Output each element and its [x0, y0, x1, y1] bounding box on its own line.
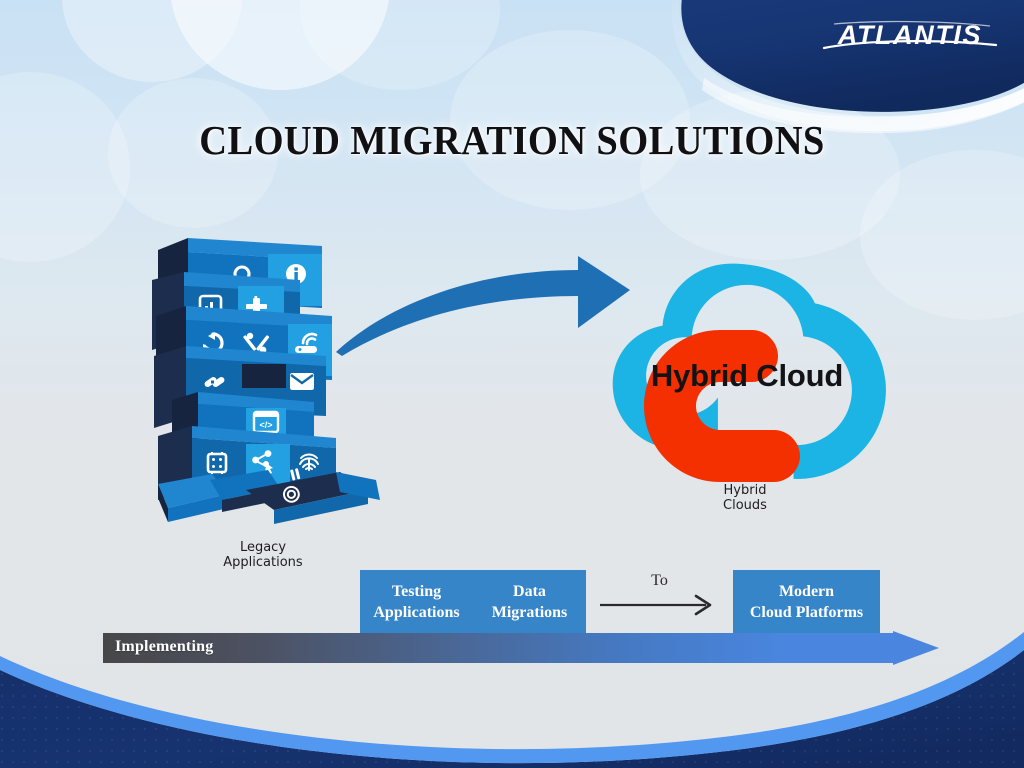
destination-line1: Modern [779, 583, 834, 600]
step-line1: Data [513, 583, 546, 600]
svg-text:</>: </> [259, 420, 272, 430]
svg-text:ATLANTIS: ATLANTIS [837, 20, 982, 50]
hybrid-cloud-logo-text: Hybrid Cloud [592, 358, 902, 394]
implementing-label: Implementing [115, 638, 213, 656]
right-arrow-icon [598, 594, 722, 616]
slide-canvas: ATLANTIS ATLANTIS CLOUD MIGRATION SOLUTI… [0, 0, 1024, 768]
cloud-blob-decoration [0, 72, 130, 262]
hybrid-caption-line2: Clouds [682, 498, 808, 513]
destination-line2: Cloud Platforms [750, 604, 863, 621]
cloud-blob-decoration [300, 0, 500, 90]
process-step-testing-applications[interactable]: Testing Applications [360, 570, 473, 634]
step-line2: Applications [373, 604, 459, 621]
hybrid-caption-line1: Hybrid [682, 483, 808, 498]
process-step-data-migrations[interactable]: Data Migrations [473, 570, 586, 634]
legacy-applications-caption: Legacy Applications [193, 540, 333, 570]
page-title: CLOUD MIGRATION SOLUTIONS [31, 116, 994, 164]
process-steps-box[interactable]: Testing Applications Data Migrations [360, 570, 586, 634]
legacy-caption-line1: Legacy [193, 540, 333, 555]
step-line1: Testing [392, 583, 441, 600]
process-destination-box[interactable]: Modern Cloud Platforms [733, 570, 880, 634]
legacy-caption-line2: Applications [193, 555, 333, 570]
process-connector-label: To [586, 572, 733, 590]
cloud-blob-decoration [170, 0, 390, 90]
cloud-blob-decoration [62, 0, 242, 82]
step-line2: Migrations [492, 604, 568, 621]
atlantis-logo: ATLANTIS [818, 14, 1002, 56]
